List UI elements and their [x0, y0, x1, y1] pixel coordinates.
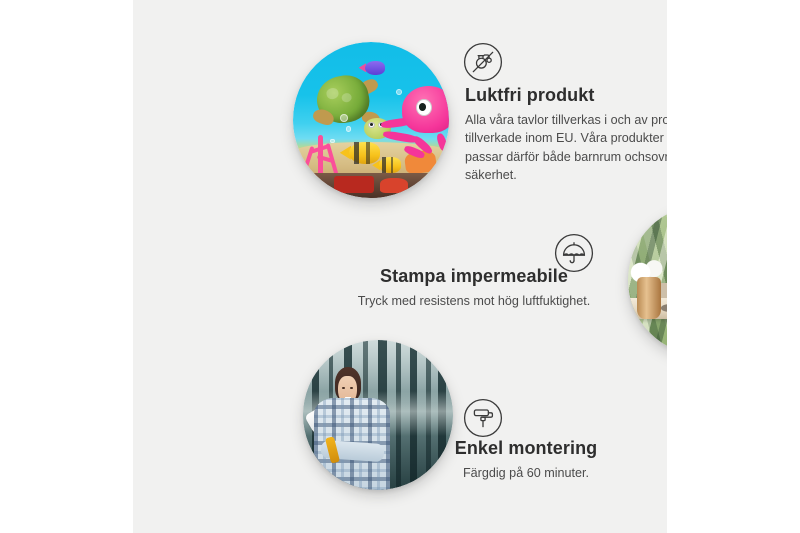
no-spray-bottle-icon [463, 42, 503, 82]
paint-roller-icon [463, 398, 503, 438]
yellow-fish-small-shape [379, 157, 401, 173]
bathroom-photo-inner [628, 205, 667, 355]
sea-turtle-shape [312, 73, 393, 145]
feature-description-waterproof-print: Tryck med resistens mot hög luftfuktighe… [329, 292, 619, 311]
soap-dish [661, 304, 667, 312]
sea-foreground-strip [293, 173, 449, 198]
feature-panel: Luktfri produkt Alla våra tavlor tillver… [133, 0, 667, 533]
woman-figure [312, 367, 399, 490]
feature-title-odour-free: Luktfri produkt [465, 84, 667, 107]
feature-block-odour-free: Luktfri produkt Alla våra tavlor tillver… [465, 84, 667, 185]
feature-block-waterproof-print: Stampa impermeabile Tryck med resistens … [329, 265, 619, 310]
feature-description-odour-free: Alla våra tavlor tillverkas i och av pro… [465, 111, 667, 186]
underwater-cartoon-photo[interactable] [293, 42, 449, 198]
yellow-fish-shape [349, 142, 380, 164]
underwater-cartoon-photo-inner [293, 42, 449, 198]
feature-title-waterproof-print: Stampa impermeabile [329, 265, 619, 288]
screenshot-root: Luktfri produkt Alla våra tavlor tillver… [0, 0, 800, 533]
feature-description-easy-installation: Färgdig på 60 minuter. [421, 464, 631, 483]
ribbed-vase [637, 277, 661, 319]
bathroom-leaf-wallpaper-photo[interactable] [628, 205, 667, 355]
feature-block-easy-installation: Enkel montering Färgdig på 60 minuter. [421, 437, 631, 482]
purple-fish-shape [365, 61, 385, 75]
feature-title-easy-installation: Enkel montering [421, 437, 631, 460]
